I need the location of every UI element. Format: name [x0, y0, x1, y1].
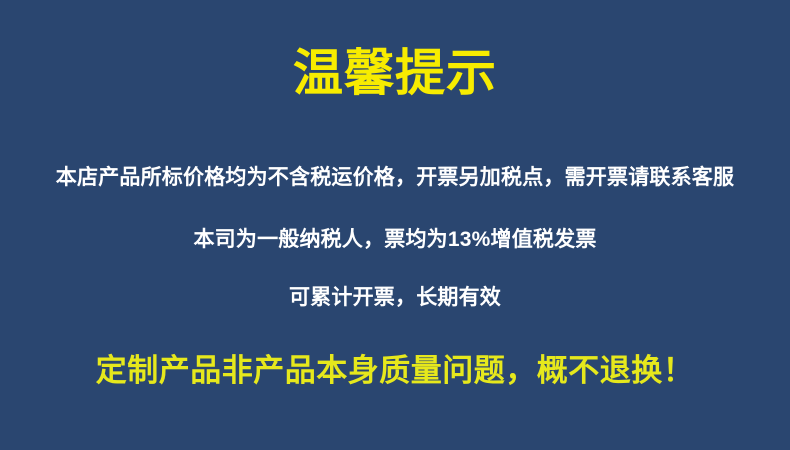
notice-banner: 温馨提示 本店产品所标价格均为不含税运价格，开票另加税点，需开票请联系客服 本司… — [0, 0, 790, 450]
page-title: 温馨提示 — [0, 44, 790, 102]
notice-line-taxpayer-status: 本司为一般纳税人，票均为13%增值税发票 — [0, 226, 790, 254]
notice-line-tax-price: 本店产品所标价格均为不含税运价格，开票另加税点，需开票请联系客服 — [0, 164, 790, 192]
notice-line-cumulative-invoice: 可累计开票，长期有效 — [0, 284, 790, 312]
notice-line-no-return-warning: 定制产品非产品本身质量问题，概不退换！ — [0, 350, 790, 392]
